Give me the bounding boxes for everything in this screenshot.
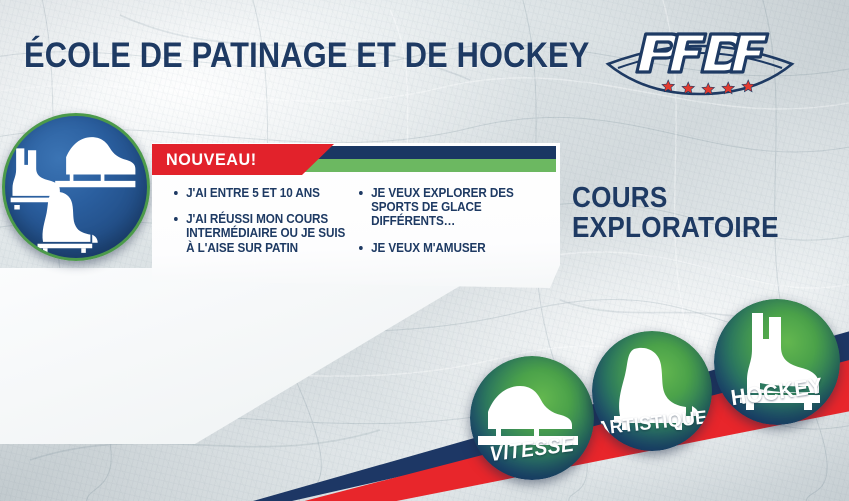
headline-line-2: EXPLORATOIRE	[572, 213, 779, 243]
headline: COURS EXPLORATOIRE	[572, 183, 779, 243]
discipline-badge-artistique[interactable]: ARTISTIQUE	[592, 331, 712, 451]
three-skates-icon	[5, 116, 147, 258]
discipline-badge-hockey[interactable]: HOCKEY	[714, 299, 840, 425]
list-item: J'AI RÉUSSI MON COURS INTERMÉDIAIRE OU J…	[174, 212, 346, 255]
page-title: ÉCOLE DE PATINAGE ET DE HOCKEY	[24, 38, 589, 73]
pfdf-logo[interactable]	[600, 24, 800, 106]
pfdf-logo-icon	[600, 24, 800, 106]
list-item: J'AI ENTRE 5 ET 10 ANS	[174, 186, 346, 200]
poster-canvas: ÉCOLE DE PATINAGE ET DE HOCKEY	[0, 0, 849, 501]
skates-emblem	[2, 113, 150, 261]
list-item: JE VEUX EXPLORER DES SPORTS DE GLACE DIF…	[359, 186, 526, 229]
discipline-badge-vitesse[interactable]: VITESSE	[470, 356, 594, 480]
headline-line-1: COURS	[572, 183, 779, 213]
bullet-column-right: JE VEUX EXPLORER DES SPORTS DE GLACE DIF…	[359, 186, 539, 267]
nouveau-label: NOUVEAU!	[166, 150, 257, 170]
bullet-column-left: J'AI ENTRE 5 ET 10 ANS J'AI RÉUSSI MON C…	[174, 186, 359, 267]
list-item: JE VEUX M'AMUSER	[359, 241, 526, 255]
callout-bullet-lists: J'AI ENTRE 5 ET 10 ANS J'AI RÉUSSI MON C…	[152, 186, 560, 286]
